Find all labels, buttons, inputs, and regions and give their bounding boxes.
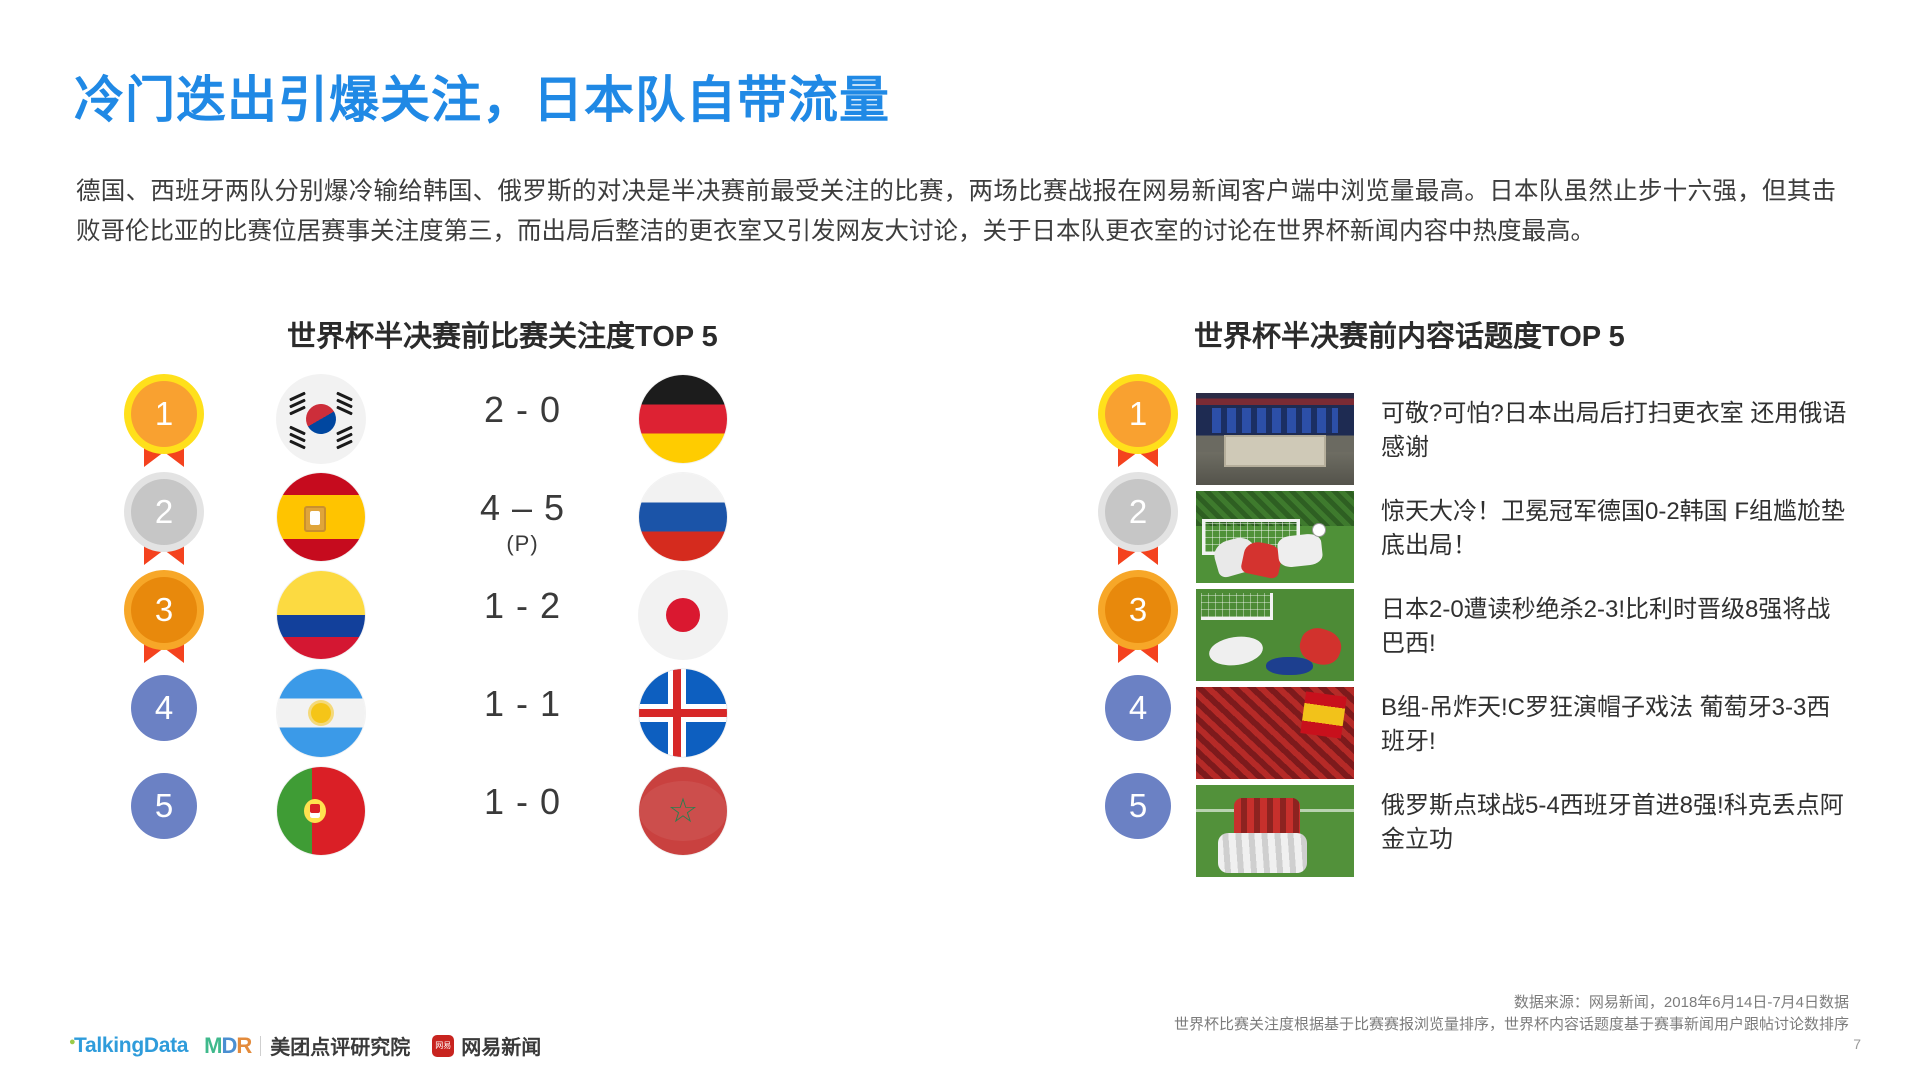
rank-badge-1: 1 xyxy=(1105,381,1171,471)
slide-page: 冷门迭出引爆关注，日本队自带流量 德国、西班牙两队分别爆冷输给韩国、俄罗斯的对决… xyxy=(0,0,1921,1080)
rank-badge-4: 4 xyxy=(1105,675,1171,765)
penalty-note: (P) xyxy=(420,531,625,557)
away-flag-japan xyxy=(639,571,727,659)
meituan-logo-text: 美团点评研究院 xyxy=(270,1031,410,1060)
rank-badge-2: 2 xyxy=(1105,479,1171,569)
rank-badge-4: 4 xyxy=(131,675,197,765)
match-score: 2 - 0 xyxy=(420,389,625,431)
home-flag-portugal xyxy=(277,767,365,855)
rank-badge-5: 5 xyxy=(1105,773,1171,863)
rank-badge-3: 3 xyxy=(131,577,197,667)
rank-number: 5 xyxy=(131,773,197,839)
match-score: 1 - 2 xyxy=(420,585,625,627)
left-section-heading: 世界杯半决赛前比赛关注度TOP 5 xyxy=(287,313,718,355)
news-thumbnail[interactable] xyxy=(1196,589,1354,681)
match-row[interactable]: 4 1 - 1 xyxy=(0,669,900,777)
news-thumbnail[interactable] xyxy=(1196,687,1354,779)
news-title[interactable]: 惊天大冷！卫冕冠军德国0-2韩国 F组尴尬垫底出局！ xyxy=(1381,495,1851,563)
rank-badge-3: 3 xyxy=(1105,577,1171,667)
match-row[interactable]: 2 4 – 5 (P) xyxy=(0,473,900,581)
match-score: 4 – 5 (P) xyxy=(420,487,625,557)
rank-badge-2: 2 xyxy=(131,479,197,569)
logo-divider xyxy=(260,1036,261,1056)
dot-icon: ● xyxy=(69,1036,75,1048)
talkingdata-logo: ● TalkingData xyxy=(74,1034,188,1058)
match-row[interactable]: 1 2 xyxy=(0,375,900,483)
rank-number: 2 xyxy=(131,479,197,545)
rank-number: 3 xyxy=(1105,577,1171,643)
home-flag-korea xyxy=(277,375,365,463)
match-row[interactable]: 3 1 - 2 xyxy=(0,571,900,679)
away-flag-morocco: ☆ xyxy=(639,767,727,855)
logo-bar: ● TalkingData MDR 美团点评研究院 网易 网易新闻 xyxy=(74,1031,541,1060)
home-flag-colombia xyxy=(277,571,365,659)
away-flag-iceland xyxy=(639,669,727,757)
away-flag-germany xyxy=(639,375,727,463)
news-title[interactable]: 日本2-0遭读秒绝杀2-3!比利时晋级8强将战巴西! xyxy=(1381,593,1851,661)
rank-number: 4 xyxy=(131,675,197,741)
rank-number: 3 xyxy=(131,577,197,643)
netease-mark-icon: 网易 xyxy=(432,1035,454,1057)
rank-number: 2 xyxy=(1105,479,1171,545)
rank-badge-1: 1 xyxy=(131,381,197,471)
news-row[interactable]: 5 俄罗斯点球战5-4西班牙首进8强!科克丢点阿金立功 xyxy=(0,0,900,108)
rank-badge-5: 5 xyxy=(131,773,197,863)
away-flag-russia xyxy=(639,473,727,561)
home-flag-argentina xyxy=(277,669,365,757)
page-number: 7 xyxy=(1853,1036,1861,1052)
news-title[interactable]: 可敬?可怕?日本出局后打扫更衣室 还用俄语感谢 xyxy=(1381,397,1851,465)
home-flag-spain xyxy=(277,473,365,561)
source-note-line2: 世界杯比赛关注度根据基于比赛赛报浏览量排序，世界杯内容话题度基于赛事新闻用户跟帖… xyxy=(1174,1013,1849,1034)
rank-number: 1 xyxy=(131,381,197,447)
rank-number: 1 xyxy=(1105,381,1171,447)
netease-logo-text: 网易新闻 xyxy=(461,1031,541,1060)
news-thumbnail[interactable] xyxy=(1196,393,1354,485)
news-title[interactable]: 俄罗斯点球战5-4西班牙首进8强!科克丢点阿金立功 xyxy=(1381,789,1851,857)
match-score: 1 - 1 xyxy=(420,683,625,725)
star-icon: ☆ xyxy=(668,794,698,828)
match-score: 1 - 0 xyxy=(420,781,625,823)
news-thumbnail[interactable] xyxy=(1196,785,1354,877)
page-subtitle: 德国、西班牙两队分别爆冷输给韩国、俄罗斯的对决是半决赛前最受关注的比赛，两场比赛… xyxy=(76,172,1836,252)
source-note-line1: 数据来源：网易新闻，2018年6月14日-7月4日数据 xyxy=(1514,991,1849,1012)
right-section-heading: 世界杯半决赛前内容话题度TOP 5 xyxy=(1194,313,1625,355)
news-thumbnail[interactable] xyxy=(1196,491,1354,583)
match-row[interactable]: 5 1 - 0 ☆ xyxy=(0,767,900,875)
rank-number: 5 xyxy=(1105,773,1171,839)
mdr-logo: MDR xyxy=(204,1033,251,1059)
rank-number: 4 xyxy=(1105,675,1171,741)
news-title[interactable]: B组-吊炸天!C罗狂演帽子戏法 葡萄牙3-3西班牙! xyxy=(1381,691,1851,759)
